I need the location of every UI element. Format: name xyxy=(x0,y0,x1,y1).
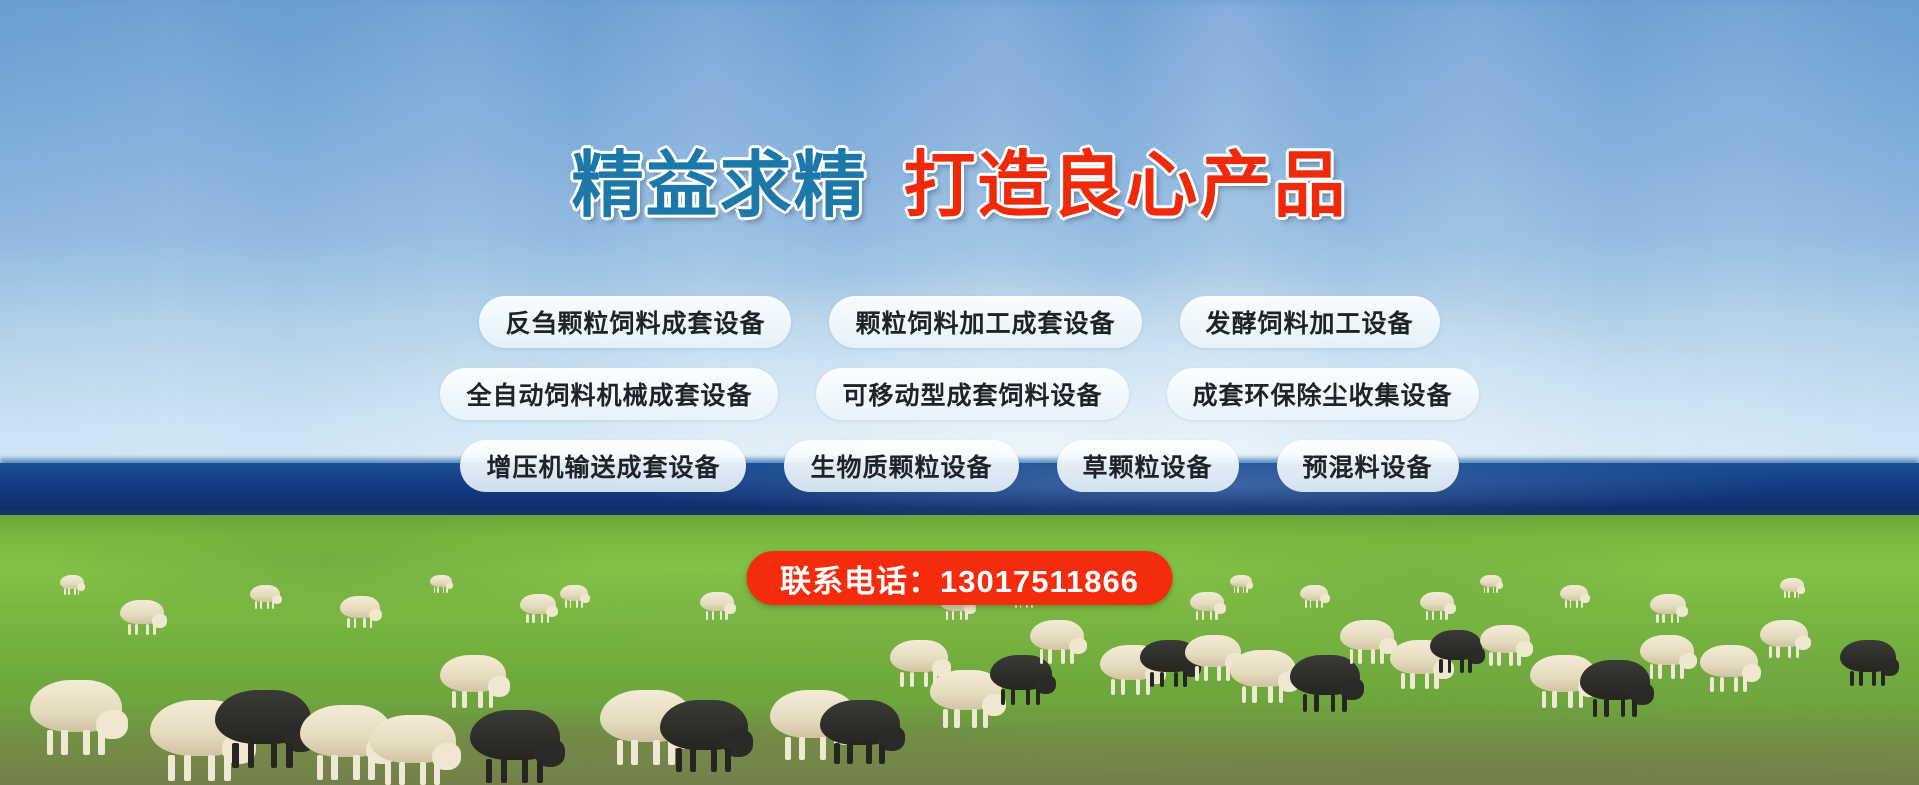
banner-headline: 精益求精打造良心产品 xyxy=(0,150,1919,222)
sheep xyxy=(1640,635,1694,677)
product-category-list: 反刍颗粒饲料成套设备 颗粒饲料加工成套设备 发酵饲料加工设备 全自动饲料机械成套… xyxy=(0,296,1919,512)
product-pill[interactable]: 反刍颗粒饲料成套设备 xyxy=(479,296,791,348)
sheep xyxy=(30,680,122,752)
sheep xyxy=(250,585,280,608)
sheep xyxy=(1760,620,1808,657)
product-pill[interactable]: 发酵饲料加工设备 xyxy=(1180,296,1440,348)
sheep xyxy=(1650,594,1686,622)
sheep xyxy=(215,690,311,765)
sheep xyxy=(1560,585,1588,607)
product-pill[interactable]: 可移动型成套饲料设备 xyxy=(816,368,1128,420)
product-pill[interactable]: 成套环保除尘收集设备 xyxy=(1167,368,1479,420)
sheep xyxy=(1780,578,1804,597)
sheep xyxy=(60,575,84,594)
sheep xyxy=(660,700,748,769)
sheep xyxy=(430,575,452,592)
sheep xyxy=(520,594,556,622)
product-pill[interactable]: 草颗粒设备 xyxy=(1057,440,1239,492)
sheep xyxy=(1480,575,1502,592)
product-pill[interactable]: 预混料设备 xyxy=(1277,440,1459,492)
headline-primary: 精益求精 xyxy=(571,150,867,222)
product-row-2: 全自动饲料机械成套设备 可移动型成套饲料设备 成套环保除尘收集设备 xyxy=(0,368,1919,420)
sheep xyxy=(370,715,456,782)
sheep xyxy=(1030,620,1084,662)
sheep xyxy=(1230,575,1252,592)
product-pill[interactable]: 全自动饲料机械成套设备 xyxy=(440,368,778,420)
sheep xyxy=(1340,620,1394,662)
contact-phone-badge[interactable]: 联系电话：13017511866 xyxy=(746,551,1173,605)
sheep xyxy=(340,596,380,627)
sheep xyxy=(120,600,164,634)
headline-secondary: 打造良心产品 xyxy=(904,150,1348,222)
sheep xyxy=(470,710,560,780)
sheep xyxy=(1190,592,1224,619)
sheep xyxy=(1700,645,1758,690)
sheep xyxy=(700,592,734,619)
hero-banner: 精益求精打造良心产品 反刍颗粒饲料成套设备 颗粒饲料加工成套设备 发酵饲料加工设… xyxy=(0,0,1919,785)
product-pill[interactable]: 生物质颗粒设备 xyxy=(784,440,1018,492)
sheep xyxy=(560,585,588,607)
sheep xyxy=(1230,650,1296,701)
sheep xyxy=(1300,585,1328,607)
sheep xyxy=(1480,625,1530,664)
product-row-1: 反刍颗粒饲料成套设备 颗粒饲料加工成套设备 发酵饲料加工设备 xyxy=(0,296,1919,348)
product-row-3: 增压机输送成套设备 生物质颗粒设备 草颗粒设备 预混料设备 xyxy=(0,440,1919,492)
sheep xyxy=(1430,630,1482,671)
sheep xyxy=(1840,640,1896,684)
sheep xyxy=(440,655,506,706)
sheep xyxy=(820,700,900,762)
sheep xyxy=(1420,592,1454,619)
product-pill[interactable]: 增压机输送成套设备 xyxy=(460,440,746,492)
product-pill[interactable]: 颗粒饲料加工成套设备 xyxy=(829,296,1141,348)
